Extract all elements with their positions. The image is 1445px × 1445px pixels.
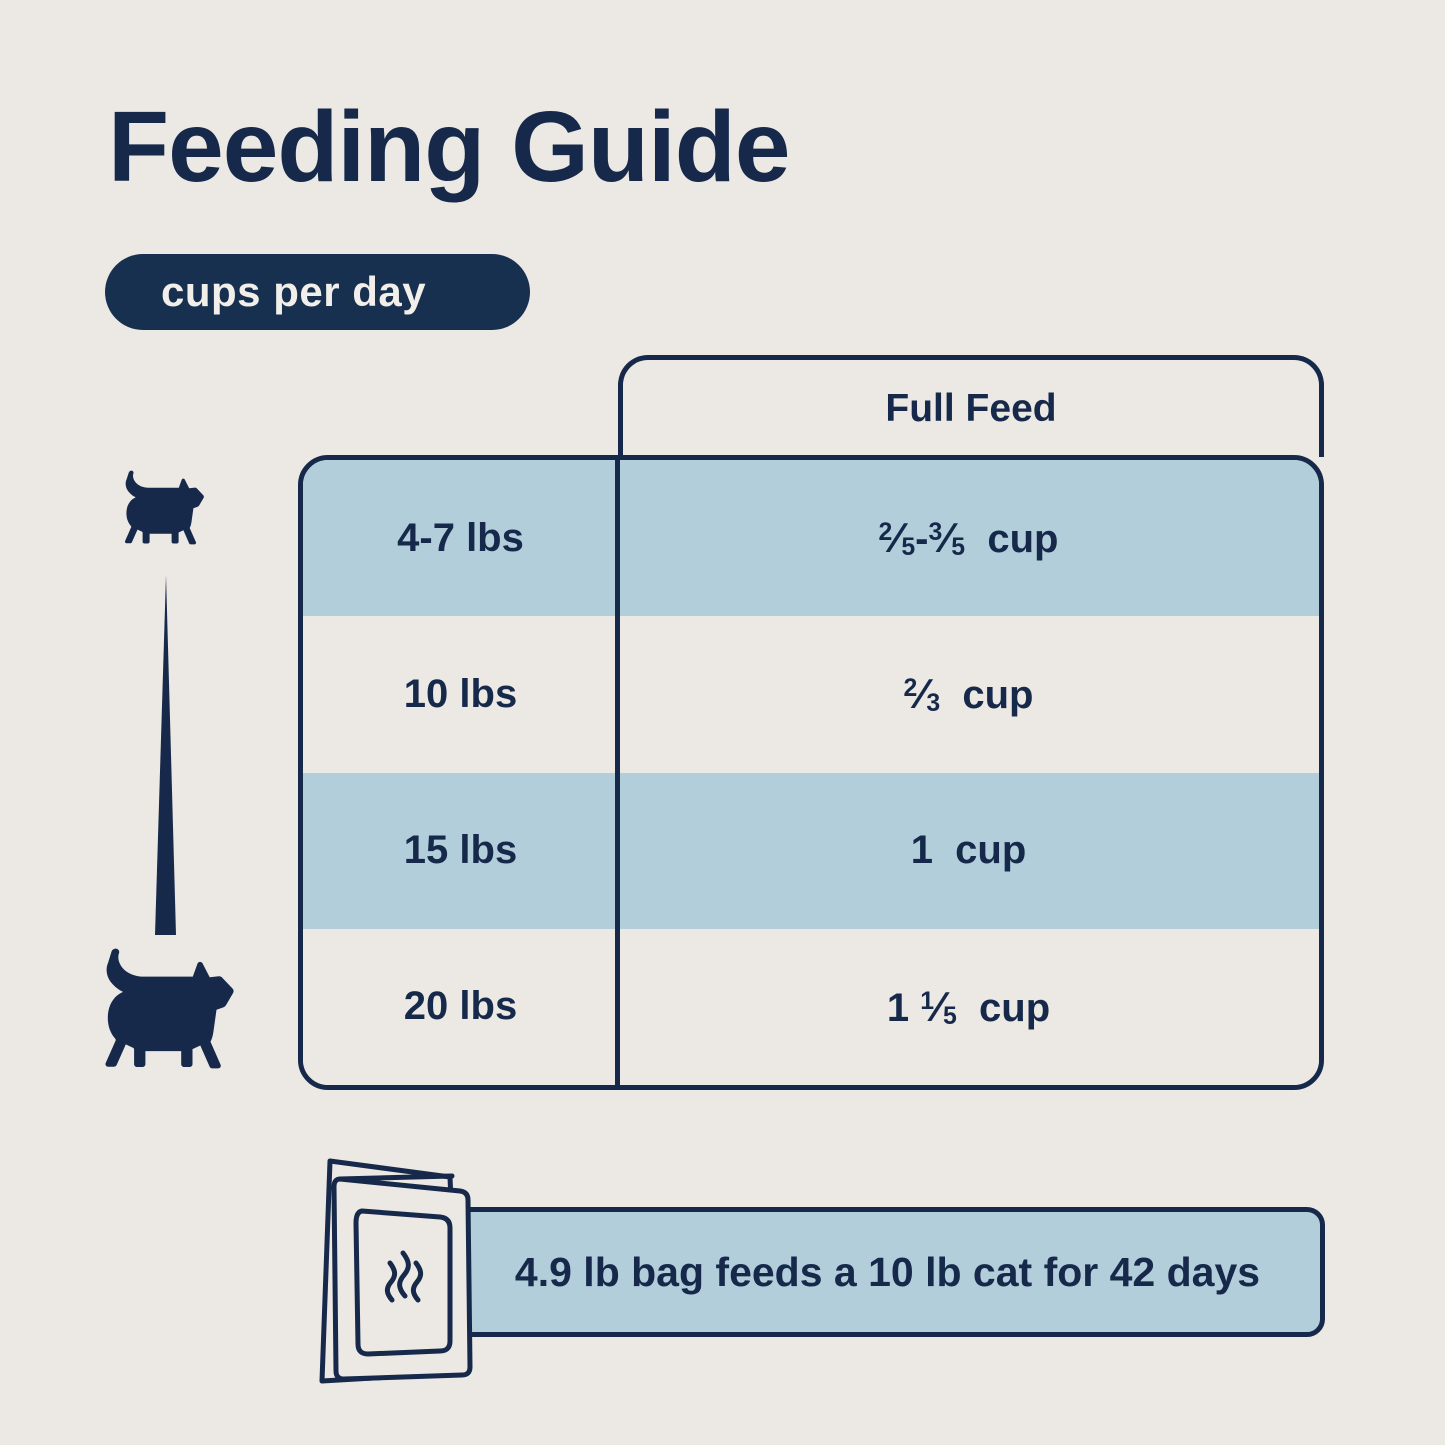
numerator: 3	[928, 519, 942, 546]
size-scale-wedge-icon	[146, 575, 186, 935]
footer-bar: 4.9 lb bag feeds a 10 lb cat for 42 days	[450, 1207, 1325, 1337]
table-row: 15 lbs 1 cup	[303, 773, 1319, 929]
unit-label: cup	[962, 673, 1033, 717]
whole-number: 1	[887, 986, 909, 1030]
feed-amount-cell: 1 1⁄5 cup	[618, 983, 1319, 1031]
table-row: 10 lbs 2⁄3 cup	[303, 616, 1319, 772]
feed-mixed-number: 1 1⁄5 cup	[887, 986, 1050, 1030]
numerator: 2	[879, 519, 893, 546]
unit-label: cup	[979, 986, 1050, 1030]
fraction-slash: ⁄	[934, 983, 943, 1030]
feed-amount-cell: 1 cup	[618, 828, 1319, 873]
denominator: 5	[951, 534, 965, 561]
feed-fraction-range: 2⁄5-3⁄5 cup	[879, 517, 1059, 561]
cat-walking-icon-small	[108, 467, 220, 553]
feed-whole-number: 1 cup	[911, 828, 1027, 872]
unit-label: cup	[987, 517, 1058, 561]
cat-size-scale	[70, 455, 300, 1100]
feed-fraction: 2⁄3 cup	[904, 673, 1034, 717]
weight-cell: 15 lbs	[303, 828, 618, 873]
feed-amount-cell: 2⁄5-3⁄5 cup	[618, 514, 1319, 562]
weight-cell: 10 lbs	[303, 672, 618, 717]
range-separator: -	[915, 517, 928, 561]
numerator: 1	[920, 988, 934, 1015]
fraction-slash: ⁄	[892, 514, 901, 561]
table-row: 20 lbs 1 1⁄5 cup	[303, 929, 1319, 1085]
fraction-slash: ⁄	[942, 514, 951, 561]
badge-label: cups per day	[161, 268, 426, 316]
table-header-full-feed: Full Feed	[618, 355, 1324, 457]
fraction-slash: ⁄	[917, 670, 926, 717]
whole-number: 1	[911, 828, 933, 872]
numerator: 2	[904, 675, 918, 702]
page-title: Feeding Guide	[108, 95, 789, 200]
table-body: 4-7 lbs 2⁄5-3⁄5 cup 10 lbs 2⁄3 cup 15 lb…	[298, 455, 1324, 1090]
footer-note: 4.9 lb bag feeds a 10 lb cat for 42 days	[300, 1145, 1325, 1385]
table-row: 4-7 lbs 2⁄5-3⁄5 cup	[303, 460, 1319, 616]
full-feed-header-label: Full Feed	[885, 387, 1056, 431]
denominator: 5	[943, 1003, 957, 1030]
food-bag-icon	[300, 1145, 500, 1385]
feeding-guide-infographic: Feeding Guide cups per day Full Feed 4-7…	[0, 0, 1445, 1445]
weight-cell: 20 lbs	[303, 984, 618, 1029]
cups-per-day-badge: cups per day	[105, 254, 530, 330]
denominator: 3	[926, 690, 940, 717]
unit-label: cup	[955, 828, 1026, 872]
column-divider	[615, 455, 620, 1090]
footer-text: 4.9 lb bag feeds a 10 lb cat for 42 days	[515, 1249, 1260, 1296]
denominator: 5	[901, 534, 915, 561]
feed-amount-cell: 2⁄3 cup	[618, 670, 1319, 718]
feeding-table: Full Feed 4-7 lbs 2⁄5-3⁄5 cup 10 lbs 2⁄3…	[298, 355, 1324, 1090]
cat-walking-icon-large	[78, 943, 260, 1083]
weight-cell: 4-7 lbs	[303, 516, 618, 561]
